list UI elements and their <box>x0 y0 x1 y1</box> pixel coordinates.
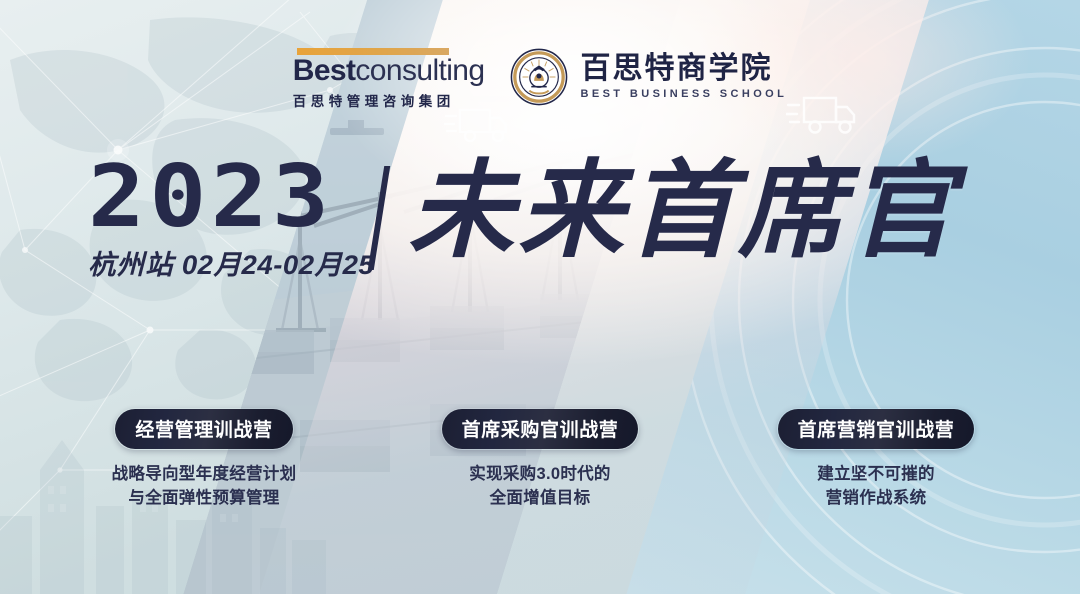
year-block: 2023 杭州站 02月24-02月25 <box>88 158 369 282</box>
course-badge: 首席采购官训战营 实现采购3.0时代的 全面增值目标 <box>431 408 649 511</box>
school-title-cn: 百思特商学院 <box>580 54 787 84</box>
course-description-line: 建立坚不可摧的 <box>767 463 985 487</box>
course-description-line: 全面增值目标 <box>431 487 649 511</box>
course-description-line: 营销作战系统 <box>767 487 985 511</box>
course-pill[interactable]: 首席营销官训战营 <box>777 408 976 450</box>
promo-poster: Bestconsulting 百思特管理咨询集团 <box>0 0 1080 594</box>
course-pill-label: 首席营销官训战营 <box>798 420 955 441</box>
course-description: 战略导向型年度经营计划 与全面弹性预算管理 <box>95 463 313 511</box>
course-pill-label: 经营管理训战营 <box>135 420 272 441</box>
best-consulting-wordmark: Bestconsulting <box>293 56 485 87</box>
main-title: 未来首席官 <box>408 152 958 271</box>
logo-row: Bestconsulting 百思特管理咨询集团 <box>0 46 1080 110</box>
course-badge: 首席营销官训战营 建立坚不可摧的 营销作战系统 <box>767 408 985 511</box>
headline-row: 2023 杭州站 02月24-02月25 未来首席官 <box>0 158 1080 278</box>
course-description-line: 与全面弹性预算管理 <box>95 487 313 511</box>
school-title-en: BEST BUSINESS SCHOOL <box>580 89 787 100</box>
logo-accent-bar <box>297 48 449 55</box>
school-crest-icon <box>510 48 568 106</box>
school-wordmark: 百思特商学院 BEST BUSINESS SCHOOL <box>580 54 787 100</box>
course-pill[interactable]: 首席采购官训战营 <box>441 408 640 450</box>
best-word-bold: Best <box>293 54 356 87</box>
course-description: 实现采购3.0时代的 全面增值目标 <box>431 463 649 511</box>
city-date-text: 杭州站 02月24-02月25 <box>88 243 374 282</box>
course-description-line: 实现采购3.0时代的 <box>431 463 649 487</box>
course-pill-label: 首席采购官训战营 <box>462 420 619 441</box>
best-consulting-subtitle: 百思特管理咨询集团 <box>293 90 485 110</box>
course-description-line: 战略导向型年度经营计划 <box>95 463 313 487</box>
best-business-school-logo: 百思特商学院 BEST BUSINESS SCHOOL <box>510 46 787 106</box>
course-badge: 经营管理训战营 战略导向型年度经营计划 与全面弹性预算管理 <box>95 408 313 511</box>
course-badge-row: 经营管理训战营 战略导向型年度经营计划 与全面弹性预算管理 首席采购官训战营 实… <box>0 408 1080 511</box>
best-consulting-logo: Bestconsulting 百思特管理咨询集团 <box>293 46 485 110</box>
course-pill[interactable]: 经营管理训战营 <box>114 408 293 450</box>
date-range: 02月24-02月25 <box>182 250 374 280</box>
course-description: 建立坚不可摧的 营销作战系统 <box>767 463 985 511</box>
best-word-light: consulting <box>355 54 484 87</box>
year-text: 2023 <box>88 158 397 237</box>
poster-content: Bestconsulting 百思特管理咨询集团 <box>0 0 1080 594</box>
city-label: 杭州站 <box>88 250 174 280</box>
